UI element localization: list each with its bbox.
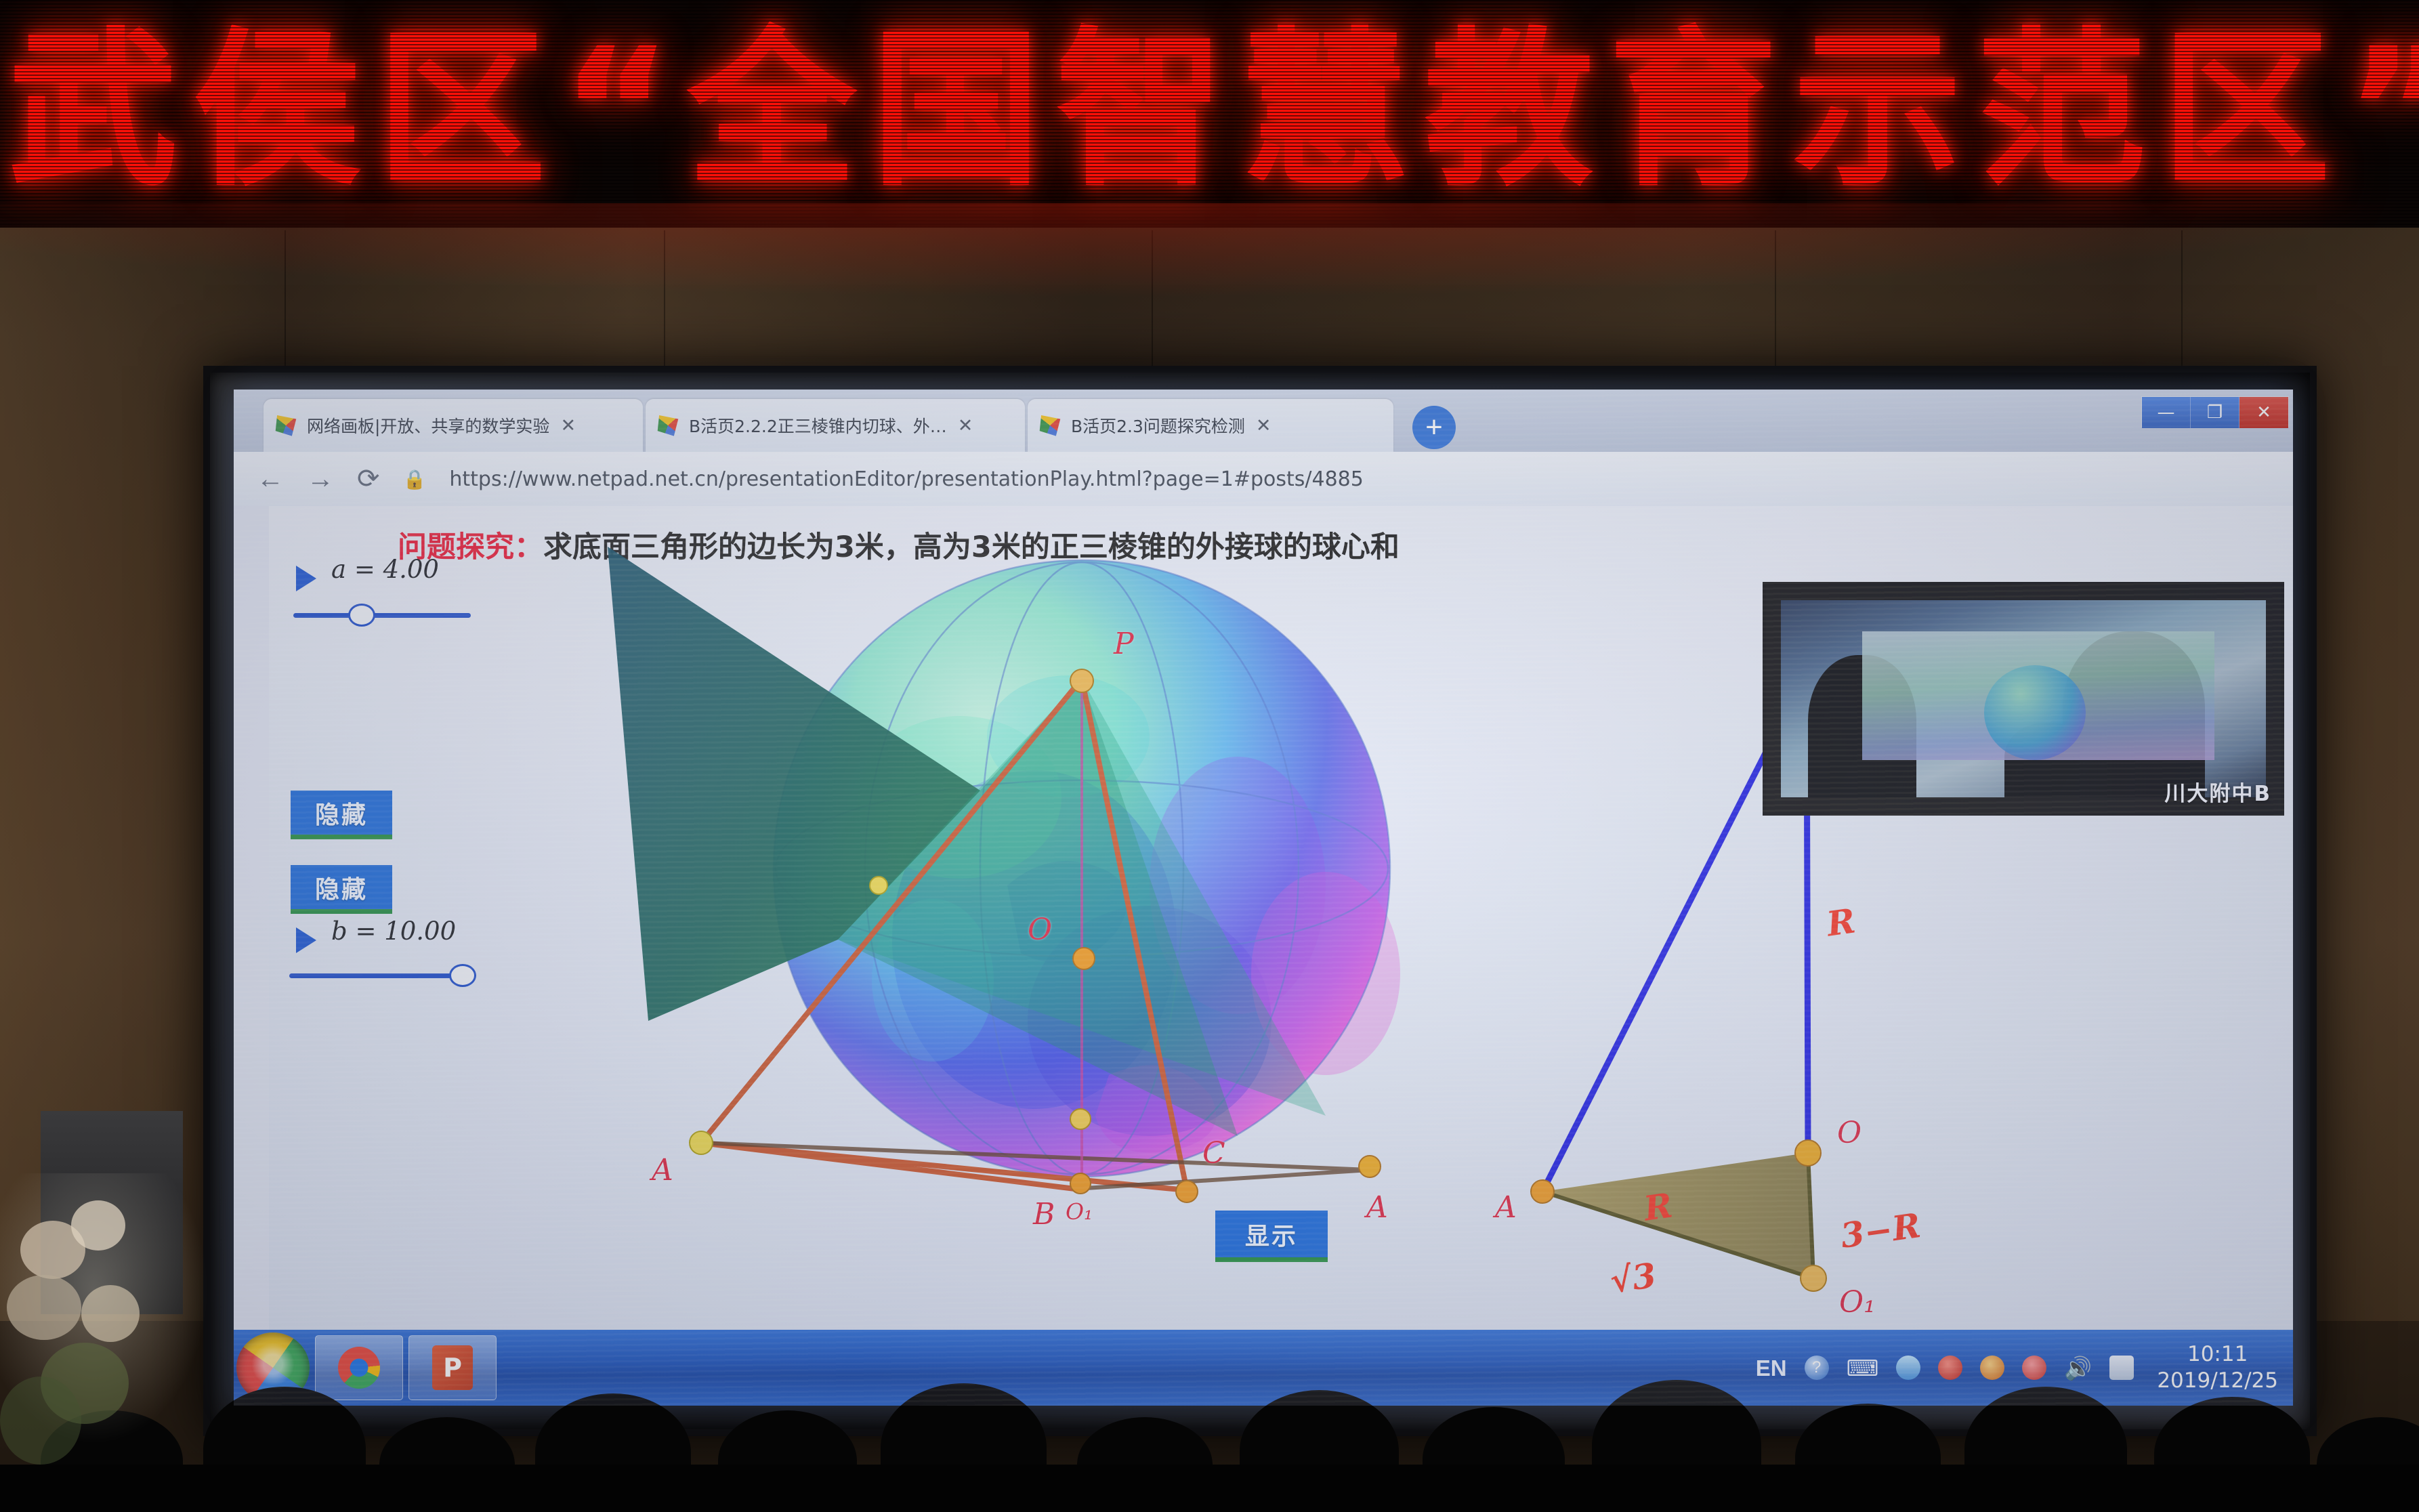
slider-b-play-icon[interactable] [296, 927, 316, 953]
netpad-favicon-icon [274, 414, 297, 437]
close-tab-1-icon[interactable]: ✕ [560, 417, 576, 435]
browser-tab-2-title: B活页2.2.2正三棱锥内切球、外… [689, 413, 947, 438]
label-sphere-P: P [1114, 627, 1134, 661]
label-sphere-B: B [1033, 1197, 1055, 1232]
annotation-radius-vertical: R [1824, 900, 1857, 944]
vertex-A [690, 1131, 713, 1154]
pip-sphere [1984, 665, 2086, 760]
vertex-P [1070, 669, 1093, 692]
vertex-mid [870, 877, 887, 894]
projected-desktop: 网络画板|开放、共享的数学实验 ✕ B活页2.2.2正三棱锥内切球、外… ✕ B… [234, 390, 2293, 1406]
annotation-sqrt3: √3 [1607, 1255, 1658, 1301]
netpad-favicon-icon [656, 414, 679, 437]
close-window-button[interactable]: ✕ [2239, 397, 2288, 428]
label-sphere-A: A [652, 1153, 673, 1188]
netpad-slide-canvas: 问题探究：求底面三角形的边长为3米，高为3米的正三棱锥的外接球的球心和 [269, 506, 2293, 1346]
browser-tab-1[interactable]: 网络画板|开放、共享的数学实验 ✕ [264, 399, 643, 452]
address-bar-url[interactable]: https://www.netpad.net.cn/presentationEd… [449, 467, 1363, 491]
base-triangle [1542, 1153, 1813, 1278]
audience-silhouettes [0, 1316, 2419, 1512]
restore-button[interactable]: ❐ [2191, 397, 2239, 428]
slider-a-knob[interactable] [348, 604, 375, 627]
slider-b-label: b = 10.00 [331, 917, 456, 946]
slider-a-play-icon[interactable] [296, 566, 316, 591]
vertex-O1 [1070, 1109, 1091, 1129]
browser-omnibar: ← → ⟳ 🔒 https://www.netpad.net.cn/presen… [234, 452, 2293, 506]
lecture-hall-room: 武侯区“全国智慧教育示范区”建 网络画板|开放、共享的数学实验 ✕ B活页2.2… [0, 0, 2419, 1512]
led-banner-text: 武侯区“全国智慧教育示范区”建 [8, 26, 2419, 195]
browser-tab-2[interactable]: B活页2.2.2正三棱锥内切球、外… ✕ [646, 399, 1025, 452]
show-button[interactable]: 显示 [1215, 1211, 1328, 1262]
label-section-O: O [1837, 1116, 1861, 1150]
label-section-O1: O₁ [1839, 1285, 1876, 1320]
section-vertex-O [1795, 1140, 1821, 1166]
slider-b-track[interactable] [289, 973, 467, 978]
forward-icon[interactable]: → [307, 465, 334, 492]
browser-tab-3-title: B活页2.3问题探究检测 [1071, 413, 1245, 438]
browser-tab-1-title: 网络画板|开放、共享的数学实验 [307, 413, 549, 438]
vertex-C [1359, 1156, 1381, 1177]
picture-in-picture-video[interactable]: 川大附中B [1763, 582, 2284, 816]
new-tab-button[interactable]: + [1412, 406, 1456, 449]
vertex-B [1070, 1173, 1091, 1194]
label-sphere-A2: A [1366, 1190, 1388, 1225]
slider-b-knob[interactable] [449, 964, 476, 987]
led-banner: 武侯区“全国智慧教育示范区”建 [0, 0, 2419, 228]
close-tab-2-icon[interactable]: ✕ [958, 417, 973, 435]
window-controls: — ❐ ✕ [2141, 396, 2289, 427]
lock-icon: 🔒 [403, 468, 427, 490]
hide-button-1[interactable]: 隐藏 [291, 791, 392, 839]
slider-a-track[interactable] [293, 613, 471, 618]
browser-tabstrip: 网络画板|开放、共享的数学实验 ✕ B活页2.2.2正三棱锥内切球、外… ✕ B… [234, 390, 2293, 452]
vertex-O [1073, 948, 1095, 969]
netpad-favicon-icon [1038, 414, 1061, 437]
label-section-A: A [1495, 1190, 1517, 1225]
browser-tab-3[interactable]: B活页2.3问题探究检测 ✕ [1028, 399, 1393, 452]
label-sphere-O: O [1028, 912, 1052, 947]
pip-video-frame [1781, 600, 2266, 797]
reload-icon[interactable]: ⟳ [357, 465, 380, 492]
section-vertex-O1 [1801, 1265, 1826, 1291]
slider-a-label: a = 4.00 [331, 555, 439, 584]
section-vertex-A [1531, 1180, 1554, 1203]
hide-button-2[interactable]: 隐藏 [291, 865, 392, 914]
vertex-A2 [1176, 1181, 1198, 1202]
flower-arrangement [0, 1173, 224, 1465]
label-sphere-O1: O₁ [1066, 1198, 1093, 1225]
back-icon[interactable]: ← [257, 465, 284, 492]
annotation-radius-slant: R [1641, 1185, 1675, 1228]
close-tab-3-icon[interactable]: ✕ [1256, 417, 1271, 435]
minimize-button[interactable]: — [2142, 397, 2191, 428]
label-sphere-C: C [1202, 1136, 1225, 1171]
pip-watermark: 川大附中B [2164, 776, 2271, 807]
